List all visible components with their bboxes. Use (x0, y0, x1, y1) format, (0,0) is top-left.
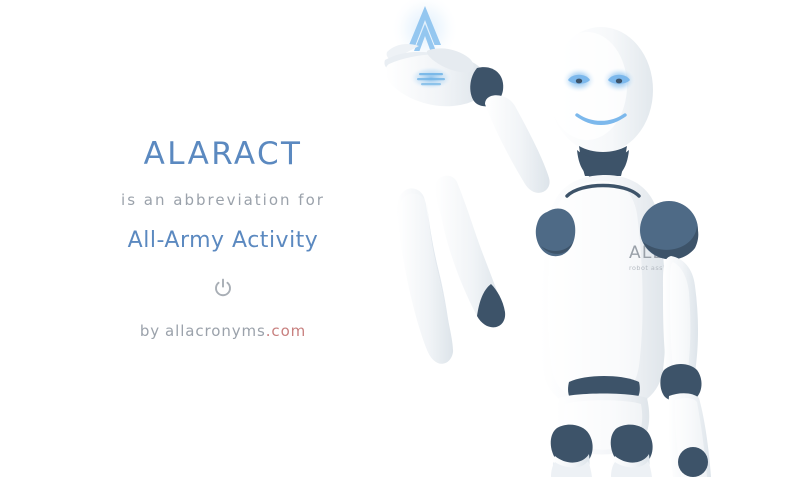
abbreviation-subtitle: is an abbreviation for (121, 193, 325, 208)
robot-hips (556, 376, 649, 455)
chest-label-accent: X (666, 243, 679, 263)
robot-left-upperarm (485, 95, 550, 193)
robot-right-leg (611, 425, 653, 477)
definition-text-inner: ALARACT is an abbreviation for All-Army … (13, 139, 433, 339)
credit-brand: allacronyms (165, 322, 266, 340)
robot-right-arm (660, 256, 711, 477)
robot-head (547, 27, 653, 153)
robot-left-shoulder-joint (536, 208, 575, 256)
site-credit[interactable]: byallacronyms.com (140, 324, 306, 339)
robot-torso: ALE X robot assistant (541, 175, 685, 412)
definition-text-panel: ALARACT is an abbreviation for All-Army … (0, 0, 448, 477)
power-icon[interactable] (213, 278, 233, 298)
acronym-definition-page: ALARACT is an abbreviation for All-Army … (0, 0, 801, 477)
credit-tld: .com (266, 322, 306, 340)
robot-left-leg (551, 425, 593, 477)
credit-by-label: by (140, 322, 160, 340)
robot-left-wrist-joint (470, 67, 503, 106)
robot-lower-legs (551, 461, 652, 477)
robot-right-shoulder-joint (640, 201, 698, 259)
robot-neck (577, 146, 629, 180)
robot-left-elbow-joint (477, 284, 505, 327)
chest-label-subtitle: robot assistant (629, 264, 684, 272)
chest-label-prefix: ALE (629, 243, 664, 263)
acronym-expansion: All-Army Activity (128, 230, 319, 252)
acronym-title: ALARACT (144, 139, 303, 170)
chest-label: ALE X robot assistant (629, 243, 684, 272)
